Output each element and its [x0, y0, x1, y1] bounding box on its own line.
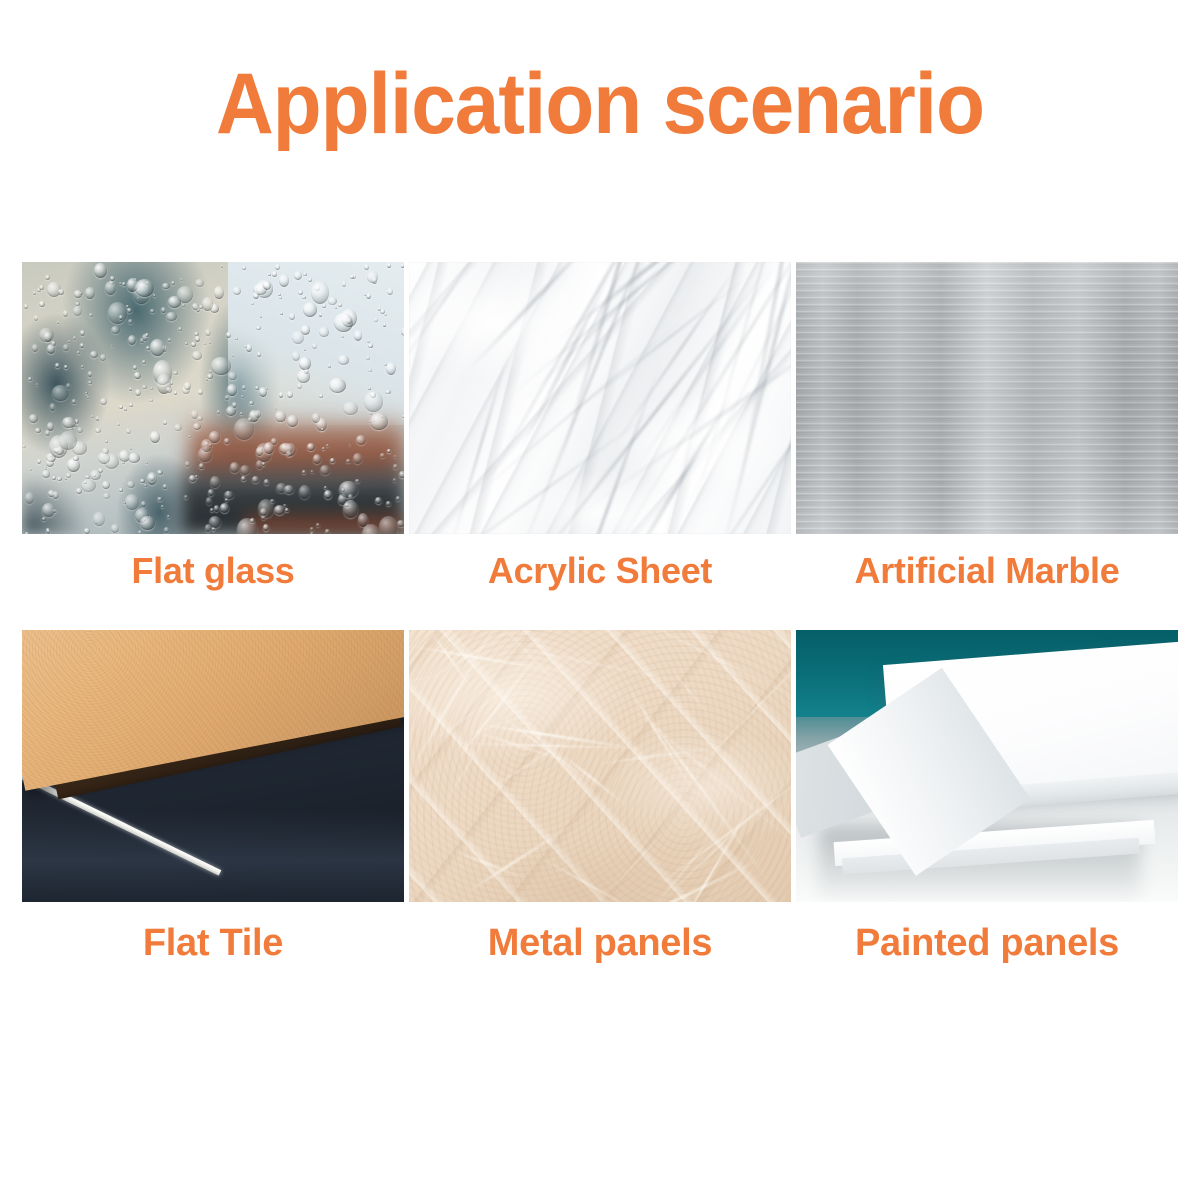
- scenario-label-artificial-marble: Artificial Marble: [796, 550, 1178, 592]
- rain-droplets: [22, 262, 404, 534]
- scenario-card-painted-panels[interactable]: Painted panels: [796, 630, 1178, 964]
- scenario-label-flat-glass: Flat glass: [22, 550, 404, 592]
- scenario-grid: Flat glass Acrylic Sheet Artificial Marb…: [22, 262, 1179, 964]
- scenario-card-acrylic-sheet[interactable]: Acrylic Sheet: [409, 262, 791, 592]
- scenario-label-painted-panels: Painted panels: [796, 922, 1178, 964]
- dark-backdrop-highlight: [22, 810, 404, 902]
- flat-glass-image: [22, 262, 404, 534]
- application-scenario-page: Application scenario Flat glass Acrylic …: [0, 0, 1200, 1200]
- page-title: Application scenario: [42, 56, 1158, 152]
- metal-panels-image: [409, 630, 791, 902]
- brushed-metal-surface: [796, 262, 1178, 534]
- flat-tile-image: [22, 630, 404, 902]
- scenario-card-flat-tile[interactable]: Flat Tile: [22, 630, 404, 964]
- scenario-label-metal-panels: Metal panels: [409, 922, 791, 964]
- scenario-card-artificial-marble[interactable]: Artificial Marble: [796, 262, 1178, 592]
- painted-panels-image: [796, 630, 1178, 902]
- acrylic-sheet-image: [409, 262, 791, 534]
- scenario-card-flat-glass[interactable]: Flat glass: [22, 262, 404, 592]
- scenario-label-flat-tile: Flat Tile: [22, 922, 404, 964]
- artificial-marble-image: [796, 262, 1178, 534]
- scenario-card-metal-panels[interactable]: Metal panels: [409, 630, 791, 964]
- scenario-label-acrylic-sheet: Acrylic Sheet: [409, 550, 791, 592]
